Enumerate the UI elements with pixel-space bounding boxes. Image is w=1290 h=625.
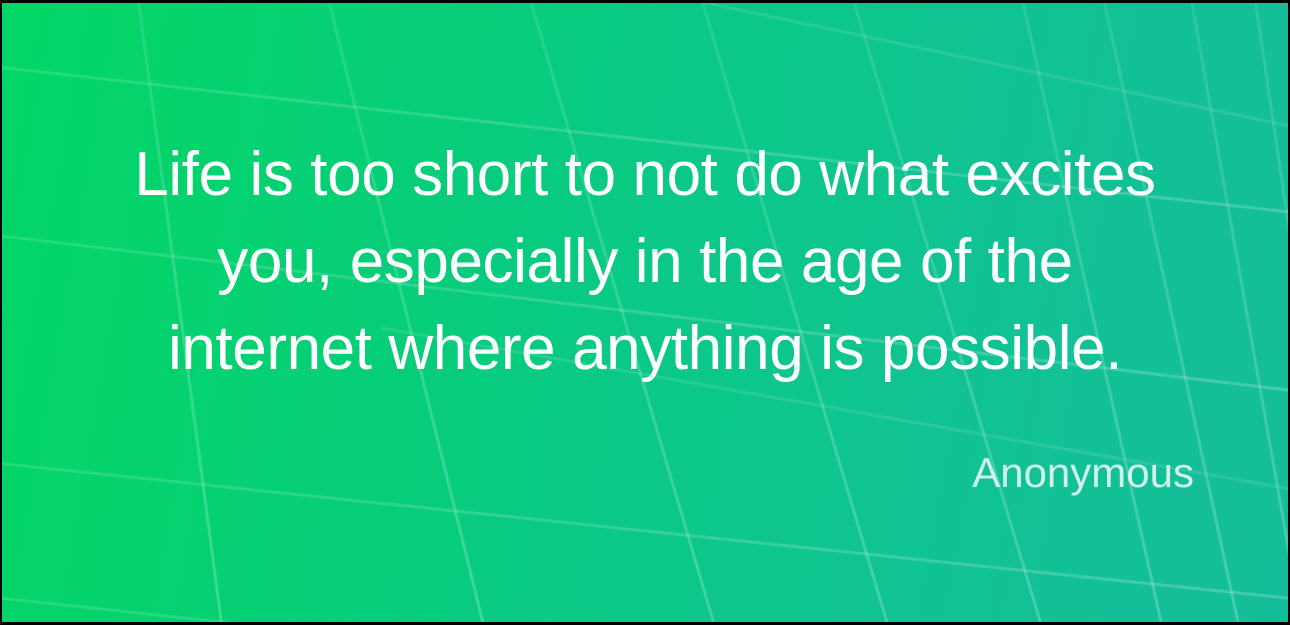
quote-line-1: Life is too short to not do what excites	[112, 131, 1178, 218]
quote-line-2: you, especially in the age of the	[112, 218, 1178, 305]
quote-card: Life is too short to not do what excites…	[0, 0, 1290, 625]
quote-line-3: internet where anything is possible.	[112, 305, 1178, 392]
quote-attribution: Anonymous	[56, 452, 1234, 494]
card-content: Life is too short to not do what excites…	[2, 3, 1288, 622]
quote-text: Life is too short to not do what excites…	[56, 131, 1234, 392]
